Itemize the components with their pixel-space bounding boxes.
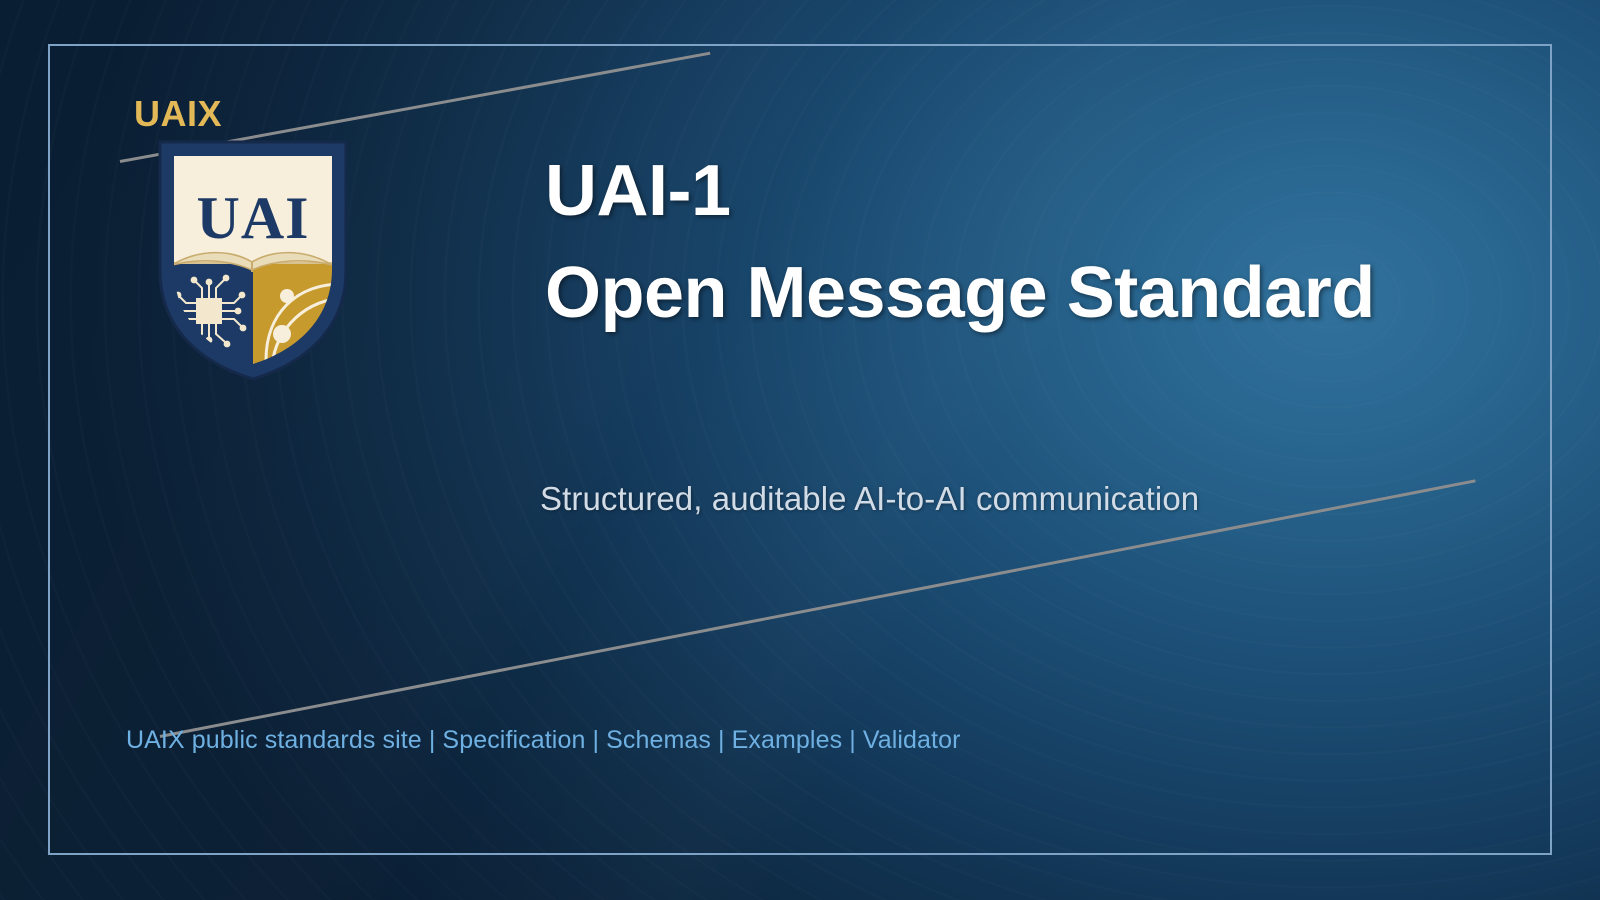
decorative-diagonal-line-bottom (160, 479, 1476, 738)
footer-link-bar: UAIX public standards site | Specificati… (126, 726, 961, 755)
title-line-2: Open Message Standard (545, 242, 1465, 344)
link-specification[interactable]: Specification (442, 726, 585, 755)
link-separator: | (422, 726, 443, 755)
link-separator: | (711, 726, 732, 755)
title-slide: UAIX (0, 0, 1600, 900)
brand-logo: UAIX (128, 96, 358, 386)
page-title: UAI-1 Open Message Standard (545, 140, 1465, 344)
link-separator: | (585, 726, 606, 755)
link-separator: | (842, 726, 863, 755)
title-line-1: UAI-1 (545, 140, 1465, 242)
brand-wordmark: UAIX (134, 96, 222, 132)
link-examples[interactable]: Examples (732, 726, 843, 755)
uai-shield-icon: UAI UAI (156, 138, 350, 382)
link-schemas[interactable]: Schemas (606, 726, 711, 755)
svg-text:UAI: UAI (196, 185, 309, 251)
link-standards-site[interactable]: UAIX public standards site (126, 726, 422, 755)
subtitle: Structured, auditable AI-to-AI communica… (540, 480, 1199, 518)
link-validator[interactable]: Validator (863, 726, 961, 755)
